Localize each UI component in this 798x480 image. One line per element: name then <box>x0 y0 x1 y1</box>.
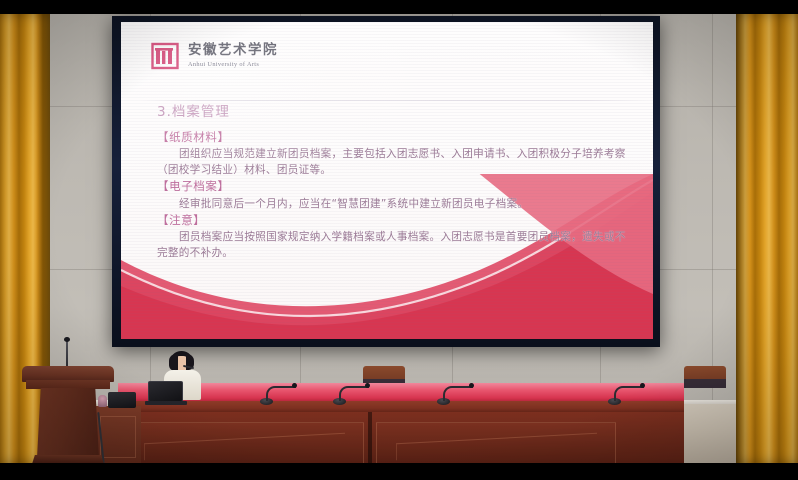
brand-name-cn: 安徽艺术学院 <box>188 44 278 58</box>
microphone-head <box>469 383 474 388</box>
curtain-right <box>736 14 798 463</box>
table-front <box>118 412 684 463</box>
letterbox-top <box>0 0 798 14</box>
projection-screen: 安徽艺术学院 Anhui University of Arts 3.档案管理 【… <box>112 16 660 347</box>
microphone-neck <box>614 386 644 401</box>
podium-microphone <box>66 340 68 368</box>
podium-base <box>32 455 104 463</box>
slide-block-body-1: 经审批同意后一个月内，应当在“智慧团建”系统中建立新团员电子档案。 <box>157 196 639 212</box>
conference-chair <box>684 366 726 388</box>
conference-table <box>118 383 684 463</box>
seal-logo-icon <box>151 42 179 70</box>
laptop-screen <box>148 381 183 402</box>
letterbox-bottom <box>0 463 798 480</box>
slide-title: 3.档案管理 <box>157 100 639 120</box>
brand-name-en: Anhui University of Arts <box>188 61 278 68</box>
table-microphone <box>608 381 648 405</box>
podium-lip <box>26 380 110 389</box>
slide-block-body-0: 团组织应当规范建立新团员档案，主要包括入团志愿书、入团申请书、入团积极分子培养考… <box>157 146 639 178</box>
table-microphone <box>437 381 477 405</box>
chair-back <box>684 366 726 388</box>
hair-side-left <box>169 354 178 371</box>
wall-seam <box>712 14 713 404</box>
slide-block-heading-2: 【注意】 <box>157 212 639 229</box>
table-cloth <box>118 383 684 403</box>
microphone-head <box>365 383 370 388</box>
table-microphone <box>260 381 300 405</box>
microphone-neck <box>443 386 473 401</box>
microphone-head <box>640 383 645 388</box>
slide-content: 3.档案管理 【纸质材料】 团组织应当规范建立新团员档案，主要包括入团志愿书、入… <box>157 100 639 261</box>
curtain-shadow <box>736 14 750 463</box>
slide-brand: 安徽艺术学院 Anhui University of Arts <box>151 42 278 70</box>
table-microphone <box>333 381 373 405</box>
laptop-hinge <box>145 401 187 405</box>
table-seam <box>368 412 372 463</box>
slide-block-heading-1: 【电子档案】 <box>157 178 639 195</box>
table-panel <box>124 422 364 463</box>
microphone-neck <box>339 386 369 401</box>
podium-body <box>37 388 99 458</box>
presentation-slide: 安徽艺术学院 Anhui University of Arts 3.档案管理 【… <box>121 22 653 339</box>
table-panel <box>376 422 616 463</box>
speaker-podium <box>22 366 114 463</box>
microphone-neck <box>266 386 296 401</box>
presenter-laptop[interactable] <box>148 381 183 402</box>
microphone-head <box>292 383 297 388</box>
lecture-hall-scene: 安徽艺术学院 Anhui University of Arts 3.档案管理 【… <box>0 14 798 463</box>
slide-block-body-2: 团员档案应当按照国家规定纳入学籍档案或人事档案。入团志愿书是首要团员档案，遗失或… <box>157 229 639 261</box>
slide-block-heading-0: 【纸质材料】 <box>157 129 639 146</box>
